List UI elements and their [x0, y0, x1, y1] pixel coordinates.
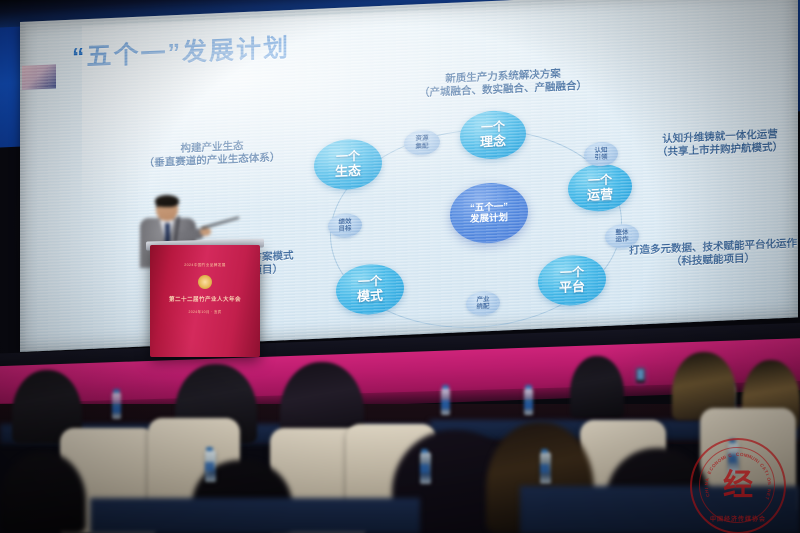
- screen-glare: [82, 2, 627, 224]
- podium-line-sub: 2024年10月 · 宜宾: [188, 309, 221, 314]
- watermark-english-char: A: [704, 477, 709, 481]
- watermark-english-char: C: [728, 453, 733, 459]
- speaker-hair: [155, 195, 179, 207]
- phone-screen: [636, 368, 645, 383]
- podium-line-main: 第二十二届竹产业人大年会: [169, 295, 241, 303]
- podium-emblem-icon: [198, 275, 212, 289]
- watermark-english-char: N: [767, 481, 772, 485]
- presentation-slide: “五个一”发展计划 新质生产力系统解决方案 （产城融合、数实融合、产融融合） 构…: [20, 0, 798, 352]
- audience-member: [570, 356, 624, 418]
- audience-table: [90, 498, 420, 533]
- water-bottle: [441, 388, 450, 415]
- water-bottle: [205, 450, 216, 482]
- projection-screen: “五个一”发展计划 新质生产力系统解决方案 （产城融合、数实融合、产融融合） 构…: [20, 0, 798, 352]
- water-bottle: [540, 452, 551, 484]
- water-bottle: [112, 392, 121, 419]
- conference-photo: “五个一”发展计划 新质生产力系统解决方案 （产城融合、数实融合、产融融合） 构…: [0, 0, 800, 533]
- watermark-english-char: T: [764, 496, 770, 501]
- water-bottle: [420, 452, 431, 484]
- watermark-english-char: N: [704, 482, 709, 486]
- podium: 2024中国竹业品牌发展 第二十二届竹产业人大年会 2024年10月 · 宜宾: [150, 245, 260, 357]
- watermark-english: CHINA ECONOMIC COMMUNICATION NET: [692, 440, 784, 532]
- watermark-english-char: I: [765, 473, 770, 476]
- watermark-logo: 经 中国经济传媒协会 CHINA ECONOMIC COMMUNICATION …: [690, 438, 786, 533]
- podium-line-top: 2024中国竹业品牌发展: [184, 263, 226, 268]
- water-bottle: [524, 388, 533, 415]
